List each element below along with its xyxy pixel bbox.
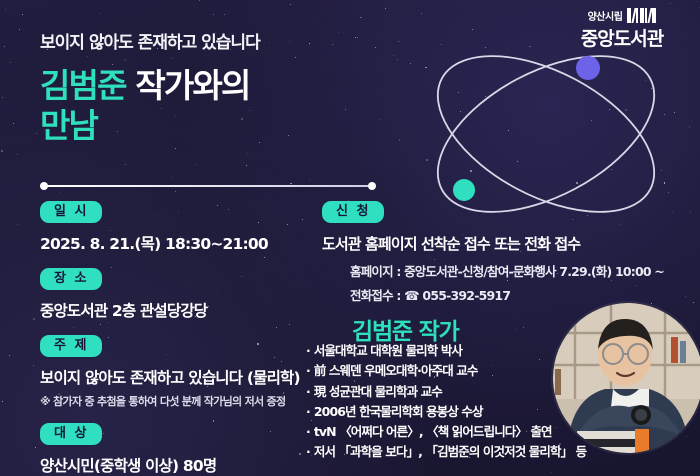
- detail-place: 장 소 중앙도서관 2층 관설당강당: [40, 267, 340, 321]
- label-date: 일 시: [40, 201, 102, 223]
- label-topic: 주 제: [40, 335, 102, 357]
- detail-date: 일 시 2025. 8. 21.(목) 18:30~21:00: [40, 200, 340, 254]
- author-bio-item: 前 스웨덴 우메오대학·아주대 교수: [306, 361, 574, 381]
- value-topic: 보이지 않아도 존재하고 있습니다 (물리학): [40, 366, 340, 388]
- apply-main-text: 도서관 홈페이지 선착순 접수 또는 전화 접수: [322, 233, 690, 254]
- library-logo: 양산시립 중앙도서관: [556, 8, 688, 51]
- value-target: 양산시민(중학생 이상) 80명: [40, 454, 340, 476]
- topic-note: ※ 참가자 중 추첨을 통하여 다섯 분께 작가님의 저서 증정: [40, 393, 340, 409]
- author-bio-item: 저서 「과학을 보다」, 「김범준의 이것저것 물리학」 등: [306, 442, 574, 462]
- label-apply: 신 청: [322, 201, 384, 223]
- poster-canvas: 양산시립 중앙도서관 보이지 않아도 존재하고 있습니다 김범준 작가와의 만남…: [0, 0, 700, 476]
- section-divider: [44, 185, 372, 187]
- title-rest: 작가와의: [126, 66, 250, 105]
- author-bio-item: tvN 〈어쩌다 어른〉, 〈책 읽어드립니다〉 출연: [306, 422, 574, 442]
- logo-library-name: 중앙도서관: [556, 24, 688, 51]
- event-details-column: 일 시 2025. 8. 21.(목) 18:30~21:00 장 소 중앙도서…: [40, 200, 340, 476]
- poster-title: 김범준 작가와의 만남: [40, 66, 370, 147]
- title-author-name: 김범준: [40, 66, 126, 105]
- orbit-dot-teal: [453, 179, 475, 201]
- orbit-dot-purple: [576, 56, 600, 80]
- detail-target: 대 상 양산시민(중학생 이상) 80명: [40, 422, 340, 476]
- value-date: 2025. 8. 21.(목) 18:30~21:00: [40, 232, 340, 254]
- poster-subtitle: 보이지 않아도 존재하고 있습니다: [40, 28, 260, 53]
- author-bio-item: 現 성균관대 물리학과 교수: [306, 382, 574, 402]
- detail-topic: 주 제 보이지 않아도 존재하고 있습니다 (물리학) ※ 참가자 중 추첨을 …: [40, 334, 340, 409]
- apply-phone-text: 전화접수 : ☎ 055-392-5917: [322, 285, 690, 304]
- author-bio-list: 서울대학교 대학원 물리학 박사前 스웨덴 우메오대학·아주대 교수現 성균관대…: [306, 341, 574, 463]
- value-place: 중앙도서관 2층 관설당강당: [40, 299, 340, 321]
- book-spines-icon: [627, 8, 656, 23]
- application-column: 신 청 도서관 홈페이지 선착순 접수 또는 전화 접수 홈페이지 : 중앙도서…: [322, 200, 690, 304]
- author-bio-item: 서울대학교 대학원 물리학 박사: [306, 341, 574, 361]
- author-portrait: [553, 303, 700, 453]
- title-line2: 만남: [40, 106, 97, 145]
- apply-homepage-text: 홈페이지 : 중앙도서관-신청/참여-문화행사 7.29.(화) 10:00 ~: [322, 261, 690, 280]
- author-bio-item: 2006년 한국물리학회 용봉상 수상: [306, 402, 574, 422]
- label-place: 장 소: [40, 268, 102, 290]
- logo-city-text: 양산시립: [588, 8, 623, 23]
- label-target: 대 상: [40, 423, 102, 445]
